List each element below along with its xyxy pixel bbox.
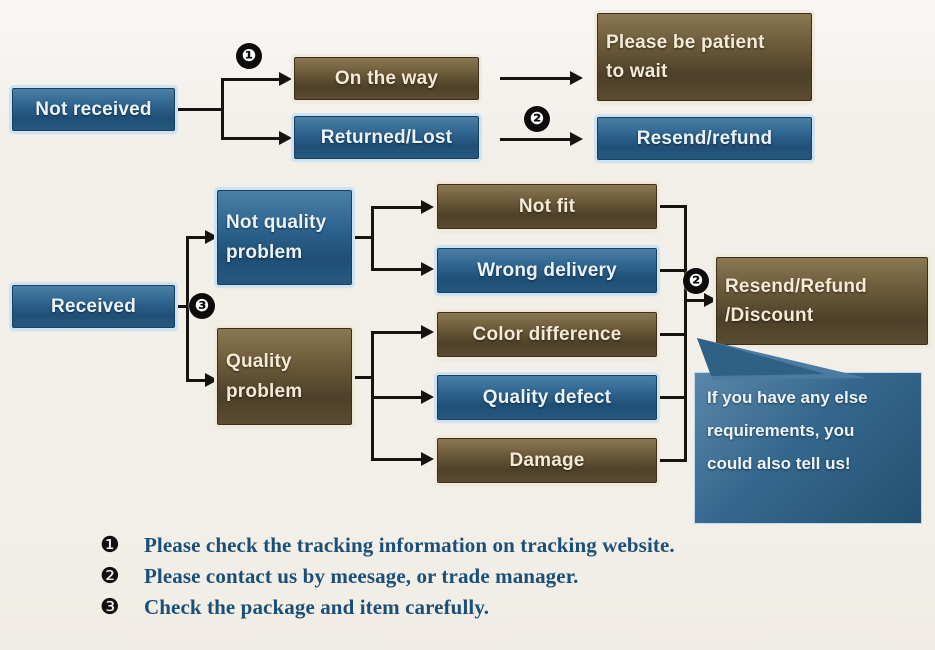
connector-to-quality-defect — [371, 396, 423, 399]
legend: ❶ Please check the tracking information … — [100, 530, 760, 623]
legend-num-2: ❷ — [100, 566, 144, 588]
callout-line2: requirements, you — [707, 414, 911, 447]
node-please-be-patient[interactable]: Please be patient to wait — [597, 13, 812, 101]
node-on-the-way-label: On the way — [327, 64, 446, 93]
marker-2-top: ❷ — [524, 106, 550, 132]
arrowhead-damage — [421, 452, 434, 466]
node-quality-defect[interactable]: Quality defect — [437, 375, 657, 420]
legend-text-3: Check the package and item carefully. — [144, 595, 489, 620]
connector-merge-bus — [684, 205, 687, 462]
node-resend-refund-label: Resend/refund — [629, 124, 781, 153]
node-on-the-way[interactable]: On the way — [294, 57, 479, 100]
connector-to-damage — [371, 458, 423, 461]
connector-to-on-the-way — [221, 78, 281, 81]
callout-tail-icon — [697, 336, 867, 380]
connector-not-fit-merge — [659, 205, 687, 208]
arrowhead-on-the-way — [279, 72, 292, 86]
connector-notquality-riser — [371, 206, 374, 271]
node-not-fit-label: Not fit — [511, 192, 583, 221]
callout-line1: If you have any else — [707, 381, 911, 414]
connector-returned-to-resend — [500, 138, 572, 141]
node-resend-refund-discount[interactable]: Resend/Refund /Discount — [716, 257, 928, 345]
callout-extra-requirements[interactable]: If you have any else requirements, you c… — [694, 372, 922, 524]
arrowhead-not-fit — [421, 200, 434, 214]
marker-1-top: ❶ — [236, 43, 262, 69]
arrowhead-resend-refund — [570, 132, 583, 146]
legend-num-1: ❶ — [100, 535, 144, 557]
callout-line3: could also tell us! — [707, 447, 911, 480]
connector-not-received-stem — [177, 108, 224, 111]
connector-color-difference-merge — [659, 333, 687, 336]
node-quality-problem[interactable]: Quality problem — [217, 328, 352, 425]
arrowhead-quality-defect — [421, 390, 434, 404]
legend-text-1: Please check the tracking information on… — [144, 533, 675, 558]
node-not-quality-problem[interactable]: Not quality problem — [217, 190, 352, 285]
connector-wrong-delivery-merge — [659, 269, 687, 272]
connector-not-received-riser — [221, 78, 224, 140]
node-quality-problem-line1: Quality — [226, 351, 292, 372]
marker-3-received: ❸ — [189, 293, 215, 319]
flowchart-canvas: Not received ❶ On the way Returned/Lost … — [0, 0, 935, 650]
legend-text-2: Please contact us by meesage, or trade m… — [144, 564, 579, 589]
legend-row-2: ❷ Please contact us by meesage, or trade… — [100, 561, 760, 592]
node-quality-problem-line2: problem — [226, 381, 302, 402]
node-returned-lost[interactable]: Returned/Lost — [294, 116, 479, 159]
node-received-label: Received — [43, 292, 144, 321]
node-wrong-delivery-label: Wrong delivery — [469, 256, 625, 285]
connector-to-not-fit — [371, 206, 423, 209]
node-resend-refund[interactable]: Resend/refund — [597, 117, 812, 160]
node-not-quality-problem-line2: problem — [226, 242, 302, 263]
arrowhead-color-difference — [421, 325, 434, 339]
node-damage-label: Damage — [501, 446, 592, 475]
node-please-be-patient-line2: to wait — [606, 61, 668, 82]
node-returned-lost-label: Returned/Lost — [313, 123, 460, 152]
arrowhead-returned-lost — [279, 131, 292, 145]
connector-to-color-difference — [371, 331, 423, 334]
legend-row-3: ❸ Check the package and item carefully. — [100, 592, 760, 623]
arrowhead-wrong-delivery — [421, 262, 434, 276]
connector-to-wrong-delivery — [371, 268, 423, 271]
node-not-received[interactable]: Not received — [12, 88, 175, 131]
node-wrong-delivery[interactable]: Wrong delivery — [437, 248, 657, 293]
connector-to-returned-lost — [221, 137, 281, 140]
node-resend-refund-discount-line2: /Discount — [725, 305, 813, 326]
node-color-difference[interactable]: Color difference — [437, 312, 657, 357]
connector-on-the-way-to-patient — [500, 77, 572, 80]
node-color-difference-label: Color difference — [465, 320, 630, 349]
node-resend-refund-discount-line1: Resend/Refund — [725, 276, 867, 297]
connector-quality-defect-merge — [659, 396, 687, 399]
connector-damage-merge — [659, 459, 687, 462]
marker-2-merge: ❷ — [683, 268, 709, 294]
legend-num-3: ❸ — [100, 597, 144, 619]
node-not-quality-problem-line1: Not quality — [226, 212, 326, 233]
node-quality-defect-label: Quality defect — [475, 383, 619, 412]
node-damage[interactable]: Damage — [437, 438, 657, 483]
arrowhead-please-be-patient — [570, 71, 583, 85]
legend-row-1: ❶ Please check the tracking information … — [100, 530, 760, 561]
node-not-received-label: Not received — [27, 95, 159, 124]
node-please-be-patient-line1: Please be patient — [606, 32, 765, 53]
node-received[interactable]: Received — [12, 285, 175, 328]
node-not-fit[interactable]: Not fit — [437, 184, 657, 229]
